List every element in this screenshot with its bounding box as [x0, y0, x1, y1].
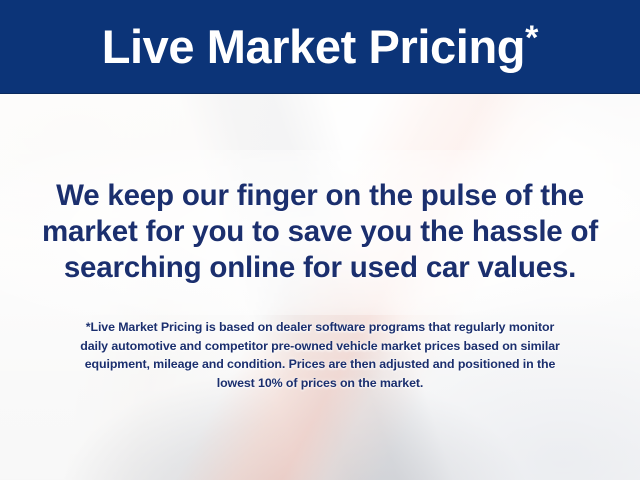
disclaimer-line-2: daily automotive and competitor pre-owne…	[22, 337, 618, 356]
headline-line-2: market for you to save you the hassle of	[26, 214, 614, 250]
disclaimer-line-1: *Live Market Pricing is based on dealer …	[22, 318, 618, 337]
headline: We keep our finger on the pulse of the m…	[0, 178, 640, 286]
title-bar: Live Market Pricing*	[0, 0, 640, 93]
headline-line-3: searching online for used car values.	[26, 250, 614, 286]
disclaimer-line-3: equipment, mileage and condition. Prices…	[22, 355, 618, 374]
live-market-pricing-banner: Live Market Pricing* We keep our finger …	[0, 0, 640, 480]
page-title: Live Market Pricing*	[102, 21, 539, 72]
headline-line-1: We keep our finger on the pulse of the	[26, 178, 614, 214]
page-title-text: Live Market Pricing	[102, 20, 525, 73]
disclaimer-text: *Live Market Pricing is based on dealer …	[0, 318, 640, 392]
disclaimer-line-4: lowest 10% of prices on the market.	[22, 374, 618, 393]
title-asterisk: *	[525, 19, 538, 57]
